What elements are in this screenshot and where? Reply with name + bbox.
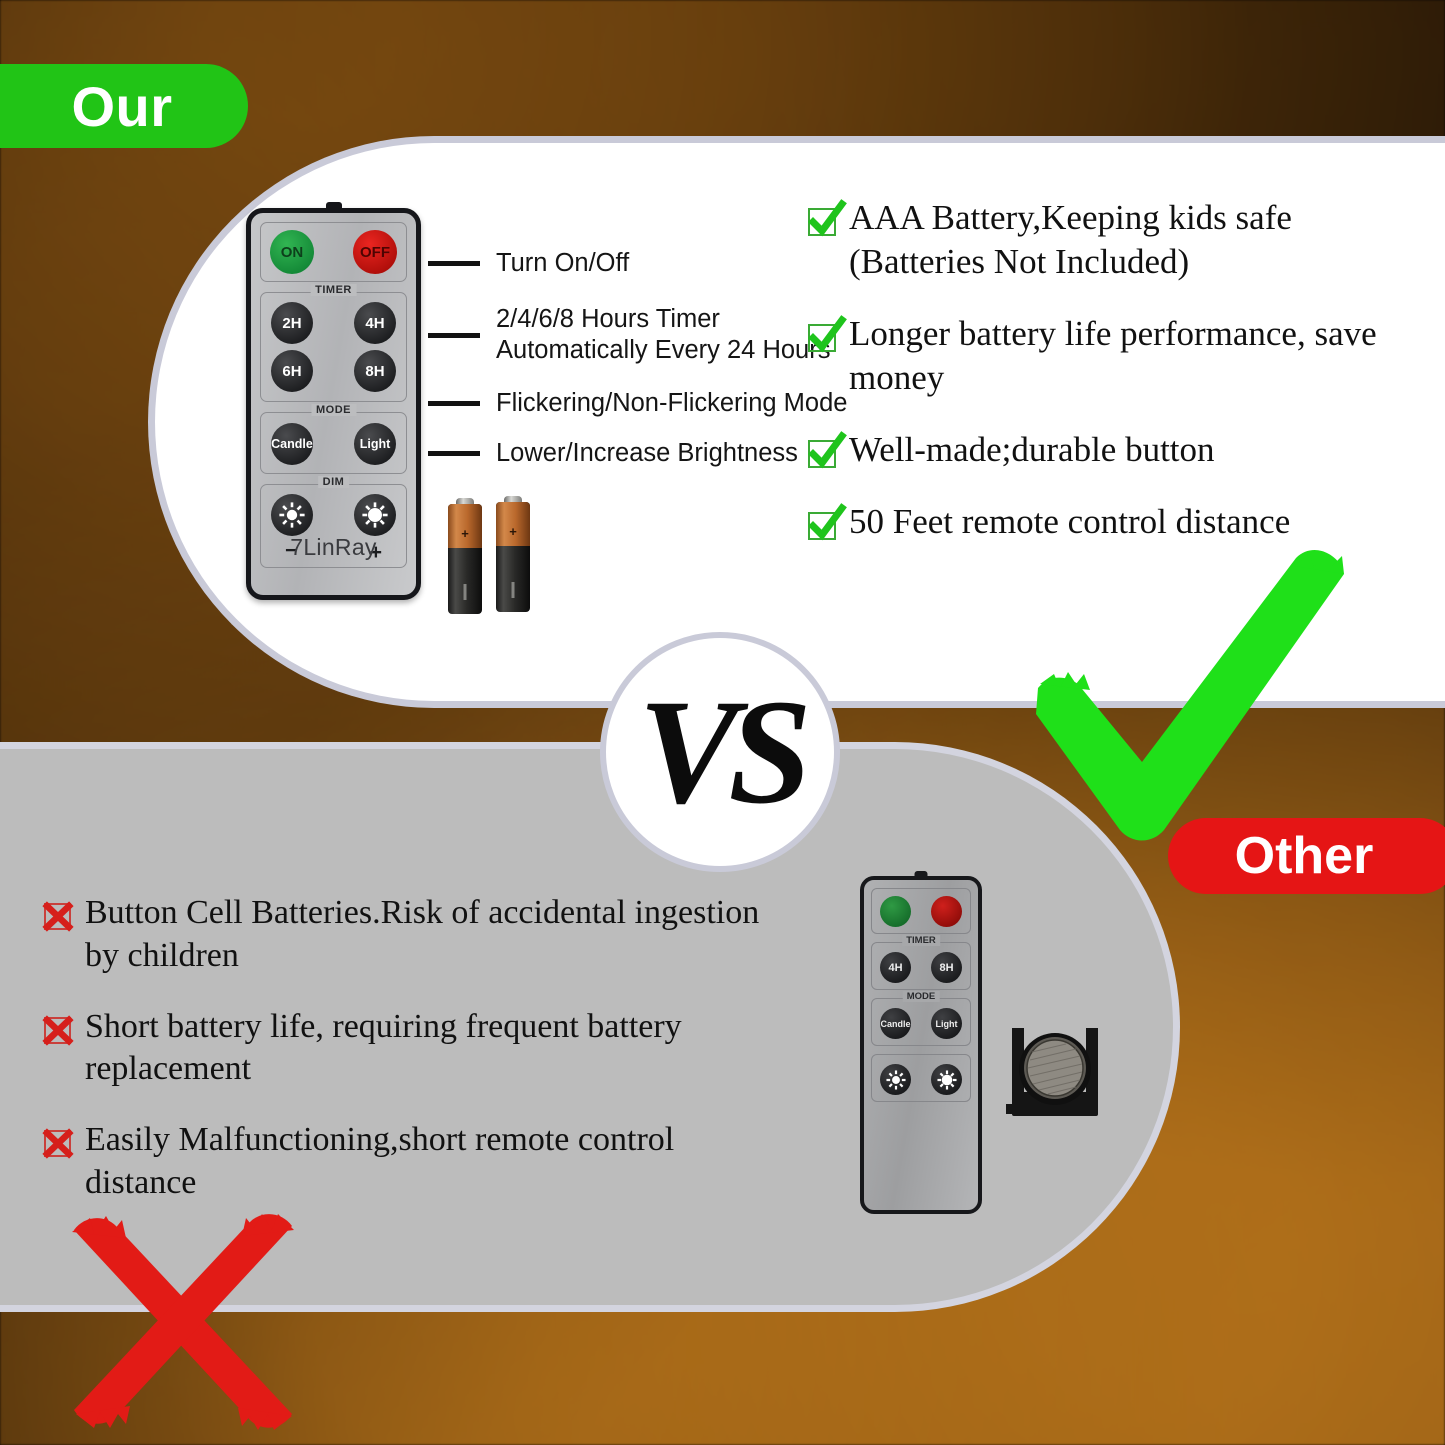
list-item: Longer battery life performance, save mo…: [808, 312, 1428, 400]
brightness-down-icon[interactable]: [271, 494, 313, 536]
other-off-button[interactable]: [931, 896, 962, 927]
coin-cell-battery: [1006, 1022, 1106, 1126]
remote-ir-nub: [326, 202, 342, 210]
callout-label: Flickering/Non-Flickering Mode: [496, 388, 847, 419]
other-mode-candle-button[interactable]: Candle: [880, 1008, 911, 1039]
battery-band: [512, 582, 515, 598]
our-badge-label: Our: [27, 74, 172, 139]
timer-4h-button[interactable]: 4H: [354, 302, 396, 344]
other-remote-control: TIMER 4H 8H MODE Candle Light: [860, 876, 982, 1214]
list-item: AAA Battery,Keeping kids safe (Batteries…: [808, 196, 1428, 284]
list-item: Button Cell Batteries.Risk of accidental…: [44, 892, 764, 978]
mode-group-label: MODE: [311, 404, 356, 416]
other-mode-label: MODE: [903, 991, 940, 1002]
vs-badge: VS: [600, 632, 840, 872]
check-icon: [808, 437, 838, 467]
callout-label: Lower/Increase Brightness: [496, 438, 798, 469]
leader-dash: [428, 261, 480, 266]
check-icon: [808, 321, 838, 351]
other-power-group: [871, 888, 971, 934]
infographic-canvas: ON OFF TIMER 2H 4H 6H 8H MODE Candle Lig…: [0, 0, 1445, 1445]
battery-plus-label: +: [448, 526, 482, 541]
timer-8h-button[interactable]: 8H: [354, 350, 396, 392]
other-dim-group: [871, 1054, 971, 1102]
list-item-label: Longer battery life performance, save mo…: [849, 312, 1428, 400]
power-group: ON OFF: [260, 222, 407, 282]
mode-group: MODE Candle Light: [260, 412, 407, 474]
other-timer-8h-button[interactable]: 8H: [931, 952, 962, 983]
leader-dash: [428, 401, 480, 406]
list-item-label: Short battery life, requiring frequent b…: [85, 1006, 764, 1092]
list-item: 50 Feet remote control distance: [808, 500, 1428, 544]
list-item-label: Button Cell Batteries.Risk of accidental…: [85, 892, 764, 978]
on-button[interactable]: ON: [270, 230, 314, 274]
list-item: Well-made;durable button: [808, 428, 1428, 472]
aaa-battery: +: [448, 504, 482, 614]
callout-power: Turn On/Off: [428, 248, 629, 279]
leader-dash: [428, 333, 480, 338]
x-mark-icon: [44, 1128, 74, 1158]
our-badge: Our: [0, 64, 248, 148]
battery-plus-label: +: [496, 524, 530, 539]
other-timer-4h-button[interactable]: 4H: [880, 952, 911, 983]
other-brightness-down-icon[interactable]: [880, 1064, 911, 1095]
off-button[interactable]: OFF: [353, 230, 397, 274]
leader-dash: [428, 451, 480, 456]
timer-6h-button[interactable]: 6H: [271, 350, 313, 392]
remote-brand-label: 7LinRay: [251, 534, 416, 561]
big-red-x-icon: [56, 1186, 316, 1445]
list-item-label: Well-made;durable button: [849, 428, 1215, 472]
big-green-check-icon: [1024, 548, 1354, 853]
callout-label: 2/4/6/8 Hours Timer Automatically Every …: [496, 304, 830, 366]
other-brightness-up-icon[interactable]: [931, 1064, 962, 1095]
other-timer-label: TIMER: [902, 935, 940, 946]
timer-group-label: TIMER: [310, 284, 357, 296]
list-item-label: AAA Battery,Keeping kids safe (Batteries…: [849, 196, 1428, 284]
list-item: Short battery life, requiring frequent b…: [44, 1006, 764, 1092]
timer-group: TIMER 2H 4H 6H 8H: [260, 292, 407, 402]
mode-candle-button[interactable]: Candle: [271, 423, 313, 465]
other-mode-group: MODE Candle Light: [871, 998, 971, 1046]
list-item-label: 50 Feet remote control distance: [849, 500, 1290, 544]
callout-mode: Flickering/Non-Flickering Mode: [428, 388, 847, 419]
callout-label: Turn On/Off: [496, 248, 629, 279]
other-mode-light-button[interactable]: Light: [931, 1008, 962, 1039]
check-icon: [808, 205, 838, 235]
our-remote-control: ON OFF TIMER 2H 4H 6H 8H MODE Candle Lig…: [246, 208, 421, 600]
battery-band: [464, 584, 467, 600]
cons-list: Button Cell Batteries.Risk of accidental…: [44, 892, 764, 1233]
other-timer-group: TIMER 4H 8H: [871, 942, 971, 990]
brightness-up-icon[interactable]: [354, 494, 396, 536]
check-icon: [808, 509, 838, 539]
other-on-button[interactable]: [880, 896, 911, 927]
x-mark-icon: [44, 901, 74, 931]
timer-2h-button[interactable]: 2H: [271, 302, 313, 344]
callout-timer: 2/4/6/8 Hours Timer Automatically Every …: [428, 304, 830, 366]
callout-dim: Lower/Increase Brightness: [428, 438, 798, 469]
vs-label: VS: [638, 666, 801, 838]
pros-list: AAA Battery,Keeping kids safe (Batteries…: [808, 196, 1428, 573]
dim-group-label: DIM: [318, 476, 350, 488]
aaa-battery: +: [496, 502, 530, 612]
mode-light-button[interactable]: Light: [354, 423, 396, 465]
remote-ir-nub: [915, 871, 928, 878]
x-mark-icon: [44, 1015, 74, 1045]
